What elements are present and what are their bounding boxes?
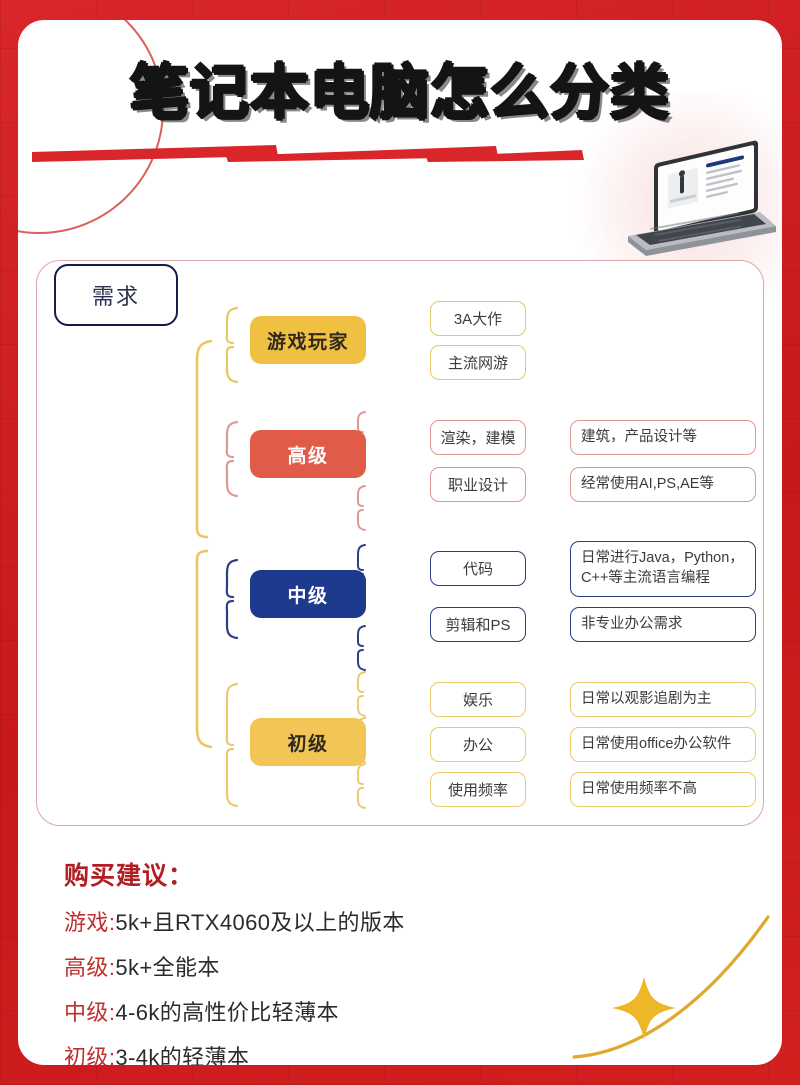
advice-row-1-value: 5k+全能本 [115, 955, 219, 980]
leaf-intermediate-1[interactable]: 非专业办公需求 [570, 607, 756, 642]
sub-beginner-0-label: 娱乐 [463, 689, 493, 710]
leaf-beginner-2-label: 日常使用频率不高 [581, 780, 697, 800]
leaf-advanced-0-label: 建筑，产品设计等 [581, 428, 697, 448]
category-gamer-label: 游戏玩家 [267, 327, 349, 354]
advice-row-1-key: 高级 [64, 955, 109, 980]
sub-gamer-0[interactable]: 3A大作 [430, 301, 526, 336]
sub-advanced-1-label: 职业设计 [448, 474, 508, 495]
sub-advanced-0-label: 渲染，建模 [440, 427, 515, 448]
advice-row-0-value: 5k+且RTX4060及以上的版本 [115, 910, 404, 935]
advice-row-2-key: 中级 [64, 1000, 109, 1025]
sub-beginner-0[interactable]: 娱乐 [430, 682, 526, 717]
sub-gamer-1[interactable]: 主流网游 [430, 345, 526, 380]
root-label: 需求 [92, 279, 140, 311]
leaf-intermediate-0[interactable]: 日常进行Java，Python，C++等主流语言编程 [570, 541, 756, 597]
white-card: 笔记本电脑怎么分类 [18, 20, 782, 1065]
leaf-beginner-1-label: 日常使用office办公软件 [581, 735, 731, 755]
leaf-beginner-1[interactable]: 日常使用office办公软件 [570, 727, 756, 762]
leaf-intermediate-1-label: 非专业办公需求 [581, 615, 683, 635]
advice-row-3-key: 初级 [64, 1045, 109, 1065]
category-gamer[interactable]: 游戏玩家 [250, 316, 366, 364]
sub-gamer-1-label: 主流网游 [448, 352, 508, 373]
sub-intermediate-0-label: 代码 [463, 558, 493, 579]
leaf-advanced-1-label: 经常使用AI,PS,AE等 [581, 475, 714, 495]
category-intermediate[interactable]: 中级 [250, 570, 366, 618]
sub-intermediate-1[interactable]: 剪辑和PS [430, 607, 526, 642]
title-underline-stroke [26, 136, 586, 162]
poster-background: 笔记本电脑怎么分类 [0, 0, 800, 1085]
category-beginner[interactable]: 初级 [250, 718, 366, 766]
advice-title: 购买建议： [64, 856, 704, 892]
sub-beginner-2[interactable]: 使用频率 [430, 772, 526, 807]
title-block: 笔记本电脑怎么分类 [18, 62, 782, 124]
laptop-icon [610, 128, 780, 256]
category-intermediate-label: 中级 [287, 581, 328, 608]
advice-block: 购买建议： 游戏:5k+且RTX4060及以上的版本 高级:5k+全能本 中级:… [64, 856, 704, 1065]
leaf-intermediate-0-label: 日常进行Java，Python，C++等主流语言编程 [581, 549, 745, 588]
page-title: 笔记本电脑怎么分类 [130, 62, 670, 124]
advice-row-3: 初级:3-4k的轻薄本 [64, 1040, 704, 1065]
advice-row-0: 游戏:5k+且RTX4060及以上的版本 [64, 905, 704, 937]
category-advanced[interactable]: 高级 [250, 430, 366, 478]
leaf-beginner-0-label: 日常以观影追剧为主 [581, 690, 712, 710]
leaf-beginner-2[interactable]: 日常使用频率不高 [570, 772, 756, 807]
advice-row-3-value: 3-4k的轻薄本 [115, 1045, 249, 1065]
advice-row-0-key: 游戏 [64, 910, 109, 935]
advice-row-1: 高级:5k+全能本 [64, 950, 704, 982]
category-advanced-label: 高级 [287, 441, 328, 468]
sub-advanced-0[interactable]: 渲染，建模 [430, 420, 526, 455]
leaf-advanced-1[interactable]: 经常使用AI,PS,AE等 [570, 467, 756, 502]
red-circle-arc-decoration [18, 20, 164, 234]
sub-intermediate-1-label: 剪辑和PS [445, 614, 510, 635]
sub-gamer-0-label: 3A大作 [454, 308, 502, 329]
sub-advanced-1[interactable]: 职业设计 [430, 467, 526, 502]
category-beginner-label: 初级 [287, 729, 328, 756]
leaf-beginner-0[interactable]: 日常以观影追剧为主 [570, 682, 756, 717]
sub-beginner-2-label: 使用频率 [448, 779, 508, 800]
sub-intermediate-0[interactable]: 代码 [430, 551, 526, 586]
sub-beginner-1-label: 办公 [463, 734, 493, 755]
mindmap-root-node[interactable]: 需求 [54, 264, 178, 326]
advice-row-2-value: 4-6k的高性价比轻薄本 [115, 1000, 339, 1025]
advice-row-2: 中级:4-6k的高性价比轻薄本 [64, 995, 704, 1027]
sub-beginner-1[interactable]: 办公 [430, 727, 526, 762]
leaf-advanced-0[interactable]: 建筑，产品设计等 [570, 420, 756, 455]
